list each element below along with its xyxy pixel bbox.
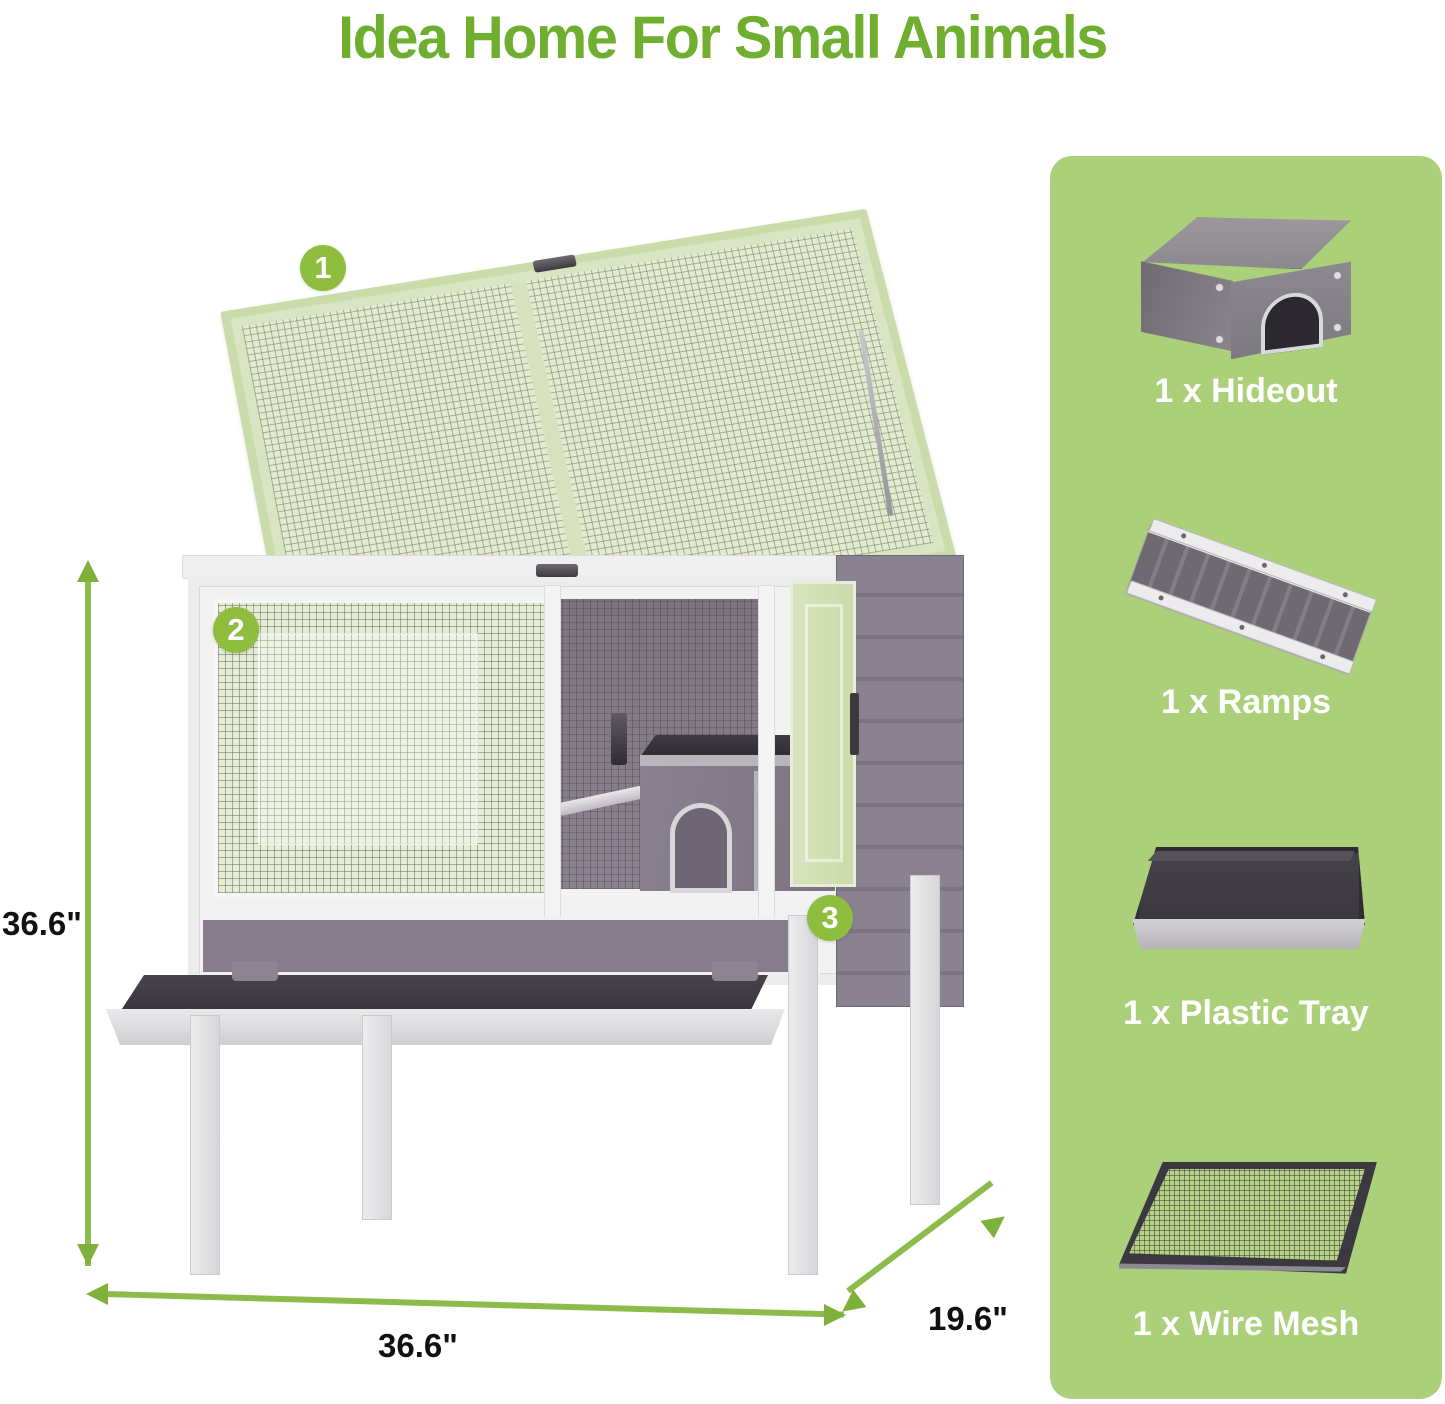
leg-rear-left: [362, 1015, 392, 1220]
leg-front-left: [190, 1015, 220, 1275]
leg-front-right: [788, 915, 818, 1275]
width-dimension-label: 36.6": [378, 1327, 458, 1365]
leg-rear-right: [910, 875, 940, 1205]
side-door-hinge-icon: [850, 693, 859, 755]
ramp-icon: [1081, 522, 1411, 672]
accessory-label-plastic-tray: 1 x Plastic Tray: [1123, 993, 1369, 1033]
accessory-item-wire-mesh: 1 x Wire Mesh: [1050, 1088, 1442, 1399]
plastic-tray-icon: [1081, 833, 1411, 983]
accessory-item-hideout: 1 x Hideout: [1050, 156, 1442, 467]
callout-badge-3: 3: [807, 895, 853, 941]
side-door-panel: [805, 604, 843, 862]
hideout-icon: [1081, 211, 1411, 361]
callout-badge-1: 1: [300, 245, 346, 291]
front-wire-mesh-door: [214, 599, 552, 897]
width-arrow-left: [86, 1283, 108, 1305]
page-title: Idea Home For Small Animals: [29, 4, 1416, 72]
height-dimension-line: [85, 578, 91, 1266]
accessory-item-ramps: 1 x Ramps: [1050, 467, 1442, 778]
height-dimension-label: 36.6": [2, 905, 82, 943]
depth-dimension-label: 19.6": [928, 1300, 1008, 1338]
accessory-item-plastic-tray: 1 x Plastic Tray: [1050, 778, 1442, 1089]
height-arrow-top: [77, 560, 99, 582]
height-arrow-bottom: [77, 1244, 99, 1266]
wire-mesh-icon: [1081, 1144, 1411, 1294]
accessory-label-ramps: 1 x Ramps: [1161, 682, 1331, 722]
callout-badge-2: 2: [213, 607, 259, 653]
accessory-label-wire-mesh: 1 x Wire Mesh: [1133, 1304, 1359, 1344]
accessory-label-hideout: 1 x Hideout: [1154, 371, 1337, 411]
lid-hinge-icon: [532, 254, 577, 272]
door-mesh-inner-panel: [258, 633, 478, 845]
hideout-arch-opening: [670, 803, 732, 893]
tray-handle-left: [232, 961, 278, 981]
lid-latch-icon: [536, 564, 578, 577]
tray-handle-right: [712, 961, 758, 981]
right-side-access-door: [790, 581, 856, 887]
rabbit-hutch-illustration: 1 2 3: [70, 215, 1030, 1325]
accessories-panel: 1 x Hideout 1 x Ramps: [1050, 156, 1442, 1399]
door-latch-icon: [611, 713, 627, 765]
